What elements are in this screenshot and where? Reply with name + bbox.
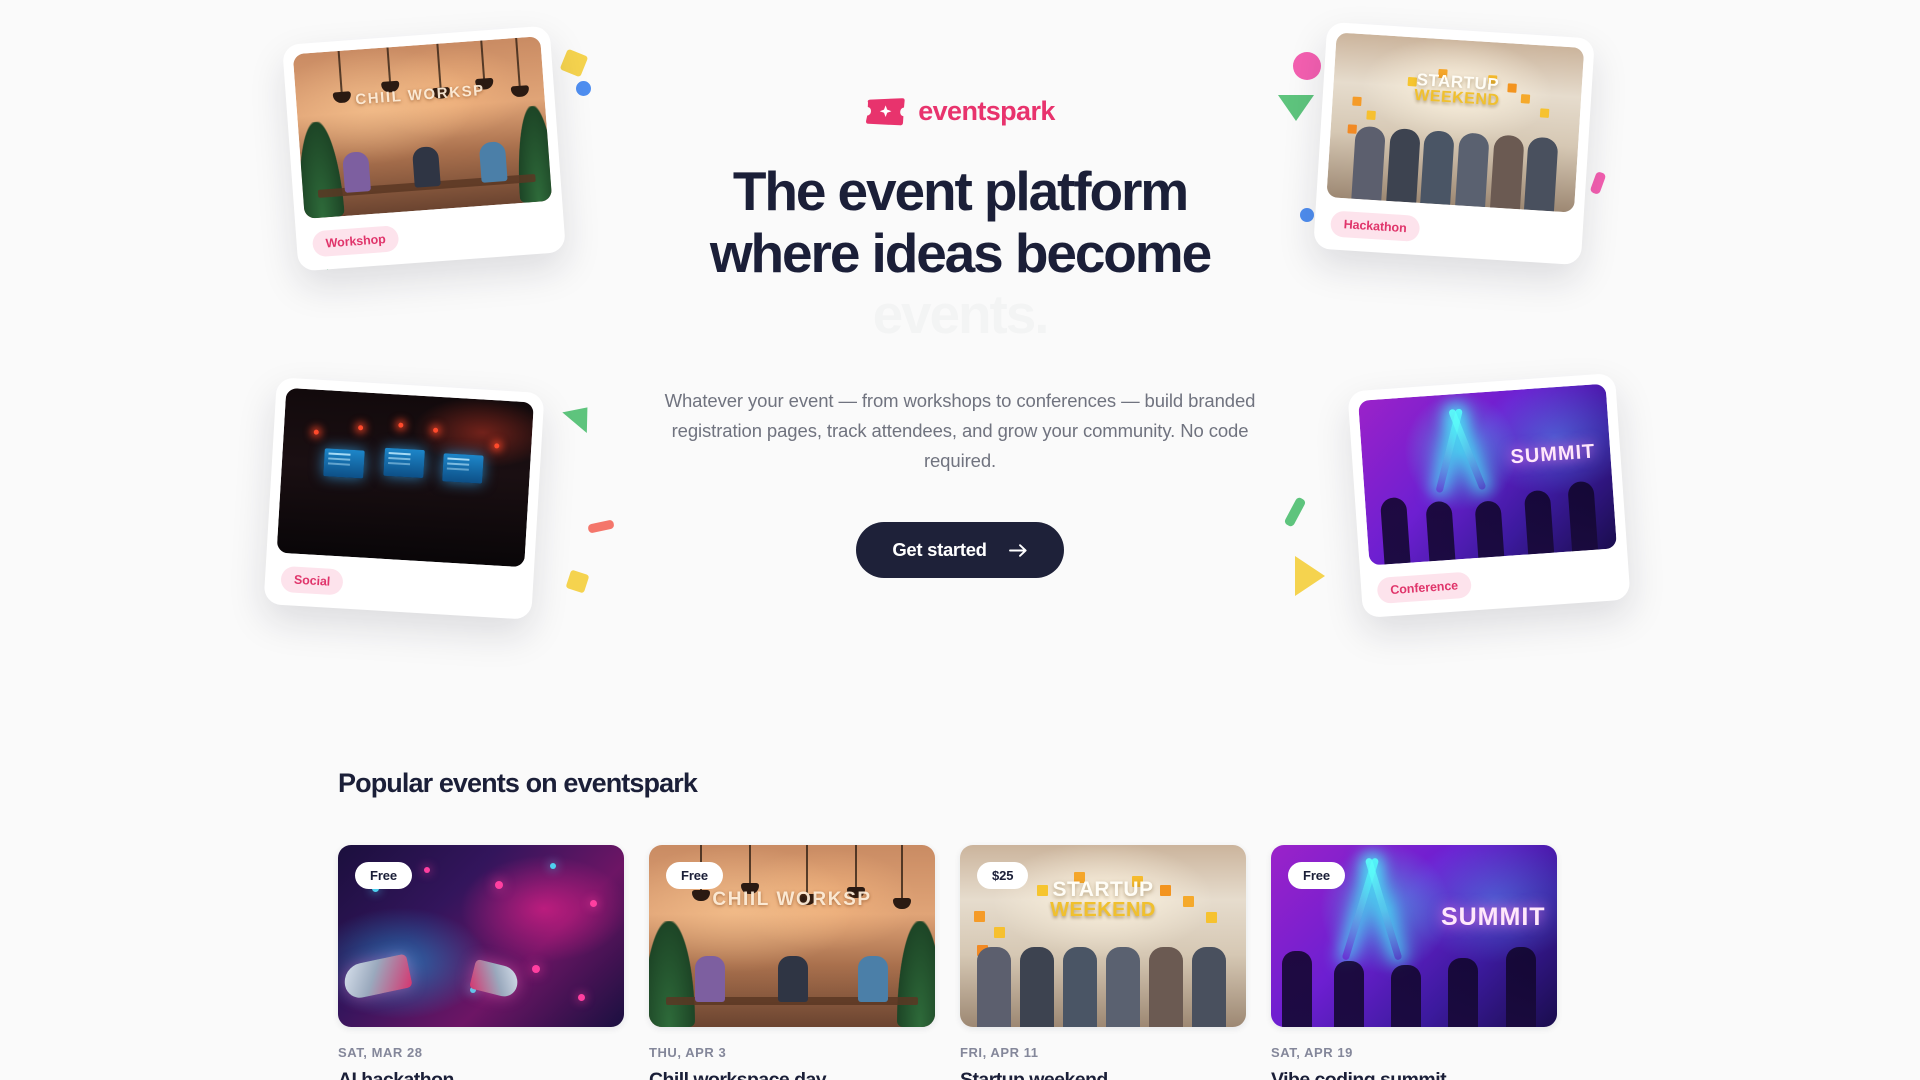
floating-card-conference[interactable]: SUMMIT Conference <box>1347 373 1630 618</box>
floating-card-thumb <box>277 388 534 567</box>
tag-pill: Conference <box>1376 572 1471 604</box>
hero-subheadline: Whatever your event — from workshops to … <box>650 386 1270 476</box>
price-badge: $25 <box>977 862 1028 889</box>
event-title: Startup weekend <box>960 1069 1246 1080</box>
photo-overlay-text: CHIIL WORKSP <box>355 81 486 107</box>
decor-chevron-green <box>562 397 599 433</box>
event-card[interactable]: Free SAT, MAR 28 AI hackathon <box>338 845 624 1080</box>
headline-line-2: where ideas become <box>650 223 1270 285</box>
get-started-label: Get started <box>892 539 986 561</box>
floating-card-thumb: CHIIL WORKSP <box>293 36 552 219</box>
popular-events-section: Popular events on eventspark Free <box>338 768 1584 1080</box>
floating-card-thumb: STARTUP WEEKEND <box>1326 32 1584 212</box>
brand-name: eventspark <box>918 96 1055 127</box>
decor-dash-salmon <box>587 519 614 533</box>
event-thumbnail: $25 STARTUP WEEKEND <box>960 845 1246 1027</box>
chill-workspace-photo: CHIIL WORKSP <box>293 36 552 219</box>
event-title: Chill workspace day <box>649 1069 935 1080</box>
photo-overlay-text: CHIIL WORKSP <box>712 889 871 911</box>
decor-square-yellow-3 <box>566 570 590 594</box>
event-thumbnail: Free SUMMIT <box>1271 845 1557 1027</box>
event-date: SAT, MAR 28 <box>338 1045 624 1060</box>
event-thumbnail: Free CHIIL WORKSP <box>649 845 935 1027</box>
event-title: Vibe coding summit <box>1271 1069 1557 1080</box>
photo-overlay-text: STARTUP WEEKEND <box>1414 69 1501 109</box>
neon-summit-photo: SUMMIT <box>1358 384 1617 566</box>
event-thumbnail: Free <box>338 845 624 1027</box>
decor-dot-pink-right <box>1293 52 1321 80</box>
decor-dash-green-right <box>1284 496 1307 527</box>
floating-card-thumb: SUMMIT <box>1358 384 1617 566</box>
event-card[interactable]: Free SUMMIT SAT, APR 19 Vibe coding summ… <box>1271 845 1557 1080</box>
hero-content: eventspark The event platform where idea… <box>650 96 1270 578</box>
event-date: FRI, APR 11 <box>960 1045 1246 1060</box>
price-badge: Free <box>666 862 723 889</box>
decor-triangle-green-right <box>1278 95 1314 121</box>
section-title: Popular events on eventspark <box>338 768 1584 799</box>
decor-dot-blue-right <box>1300 208 1314 222</box>
tag-pill: Workshop <box>312 225 400 257</box>
page-title: The event platform where ideas become ev… <box>650 161 1270 346</box>
headline-line-3: events. <box>650 284 1270 346</box>
event-title: AI hackathon <box>338 1069 624 1080</box>
price-badge: Free <box>355 862 412 889</box>
event-date: THU, APR 3 <box>649 1045 935 1060</box>
decor-dot-blue <box>576 81 591 96</box>
floating-card-social[interactable]: Social <box>264 377 545 619</box>
event-card[interactable]: $25 STARTUP WEEKEND <box>960 845 1246 1080</box>
decor-triangle-yellow-right <box>1295 556 1325 596</box>
decor-square-yellow <box>560 49 589 78</box>
floating-card-hackathon[interactable]: STARTUP WEEKEND Hackathon <box>1313 22 1595 265</box>
get-started-button[interactable]: Get started <box>856 522 1063 578</box>
decor-dash-pink-right <box>1590 171 1607 195</box>
event-date: SAT, APR 19 <box>1271 1045 1557 1060</box>
headline-line-1: The event platform <box>650 161 1270 223</box>
event-grid: Free SAT, MAR 28 AI hackathon <box>338 845 1584 1080</box>
photo-overlay-text: SUMMIT <box>1510 441 1596 470</box>
arrow-right-icon <box>1009 543 1028 558</box>
photo-overlay-text: SUMMIT <box>1441 903 1546 932</box>
startup-weekend-photo: STARTUP WEEKEND <box>1326 32 1584 212</box>
floating-card-workshop[interactable]: CHIIL WORKSP Workshop <box>282 25 566 271</box>
hero-section: CHIIL WORKSP Workshop <box>0 0 1920 700</box>
dark-lounge-photo <box>277 388 534 567</box>
ticket-sparkle-icon <box>865 97 907 127</box>
photo-overlay-text: STARTUP WEEKEND <box>1050 878 1156 922</box>
tag-pill: Social <box>280 566 344 596</box>
tag-pill: Hackathon <box>1330 210 1420 242</box>
price-badge: Free <box>1288 862 1345 889</box>
event-card[interactable]: Free CHIIL WORKSP THU, APR 3 Chi <box>649 845 935 1080</box>
brand-logo[interactable]: eventspark <box>650 96 1270 127</box>
